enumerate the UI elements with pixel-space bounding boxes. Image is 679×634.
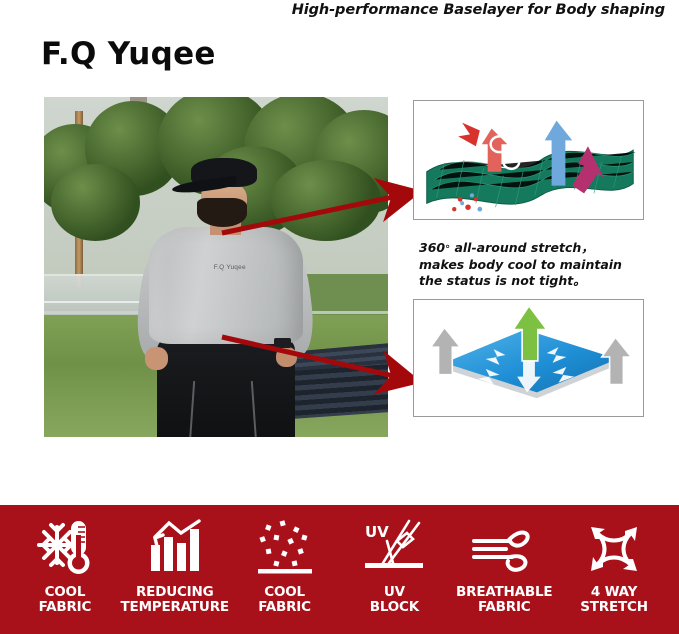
feature-label: REDUCING TEMPERATURE bbox=[121, 585, 229, 615]
breathability-diagram-panel bbox=[413, 299, 644, 417]
feature-cool-fabric-2: COOL FABRIC bbox=[230, 517, 340, 615]
feature-label: UV BLOCK bbox=[370, 585, 419, 615]
product-photo: F.Q Yuqee bbox=[44, 97, 388, 437]
stretch-diagram bbox=[414, 101, 643, 219]
model-baselayer bbox=[149, 227, 303, 344]
snowflake-thermometer-icon bbox=[37, 517, 93, 579]
photo-model: F.Q Yuqee bbox=[133, 158, 326, 437]
feature-label: BREATHABLE FABRIC bbox=[456, 585, 552, 615]
feature-label: COOL FABRIC bbox=[258, 585, 311, 615]
fabric-surface-line bbox=[258, 569, 312, 574]
feature-cool-fabric-1: COOL FABRIC bbox=[10, 517, 120, 615]
stretch-arrowheads bbox=[591, 527, 637, 571]
uv-block-icon: UV bbox=[363, 517, 425, 579]
feature-label: COOL FABRIC bbox=[39, 585, 92, 615]
model-leggings bbox=[157, 335, 296, 437]
cooling-particles-icon bbox=[256, 517, 314, 579]
wind-breathable-icon bbox=[472, 517, 536, 579]
feature-reducing-temperature: REDUCING TEMPERATURE bbox=[120, 517, 230, 615]
wind-curls bbox=[508, 532, 528, 569]
feature-breathable-fabric: BREATHABLE FABRIC bbox=[449, 517, 559, 615]
fabric-surface-line bbox=[365, 563, 423, 568]
stretch-diagram-panel bbox=[413, 100, 644, 220]
feature-bar: COOL FABRIC bbox=[0, 505, 679, 634]
wind-lines bbox=[474, 541, 512, 557]
caption-line-3: the status is not tight。 bbox=[419, 273, 586, 288]
feature-four-way-stretch: 4 WAY STRETCH bbox=[559, 517, 669, 615]
product-infographic: High-performance Baselayer for Body shap… bbox=[0, 0, 679, 634]
caption-line-1: 360° all-around stretch， bbox=[419, 240, 594, 255]
brand-title: F.Q Yuqee bbox=[41, 36, 216, 72]
caption-line-2: makes body cool to maintain bbox=[419, 257, 622, 272]
uv-label: UV bbox=[365, 523, 389, 541]
model-watch bbox=[274, 338, 291, 348]
breathability-diagram bbox=[414, 300, 643, 416]
chest-print: F.Q Yuqee bbox=[191, 264, 268, 271]
bar-chart-down-arrow-icon bbox=[147, 517, 203, 579]
stretch-caption: 360° all-around stretch， makes body cool… bbox=[419, 240, 655, 290]
feature-label: 4 WAY STRETCH bbox=[580, 585, 648, 615]
four-way-stretch-icon bbox=[583, 517, 645, 579]
particles bbox=[259, 520, 307, 566]
feature-uv-block: UV UV BLOCK bbox=[339, 517, 449, 615]
page-tagline: High-performance Baselayer for Body shap… bbox=[292, 2, 665, 18]
